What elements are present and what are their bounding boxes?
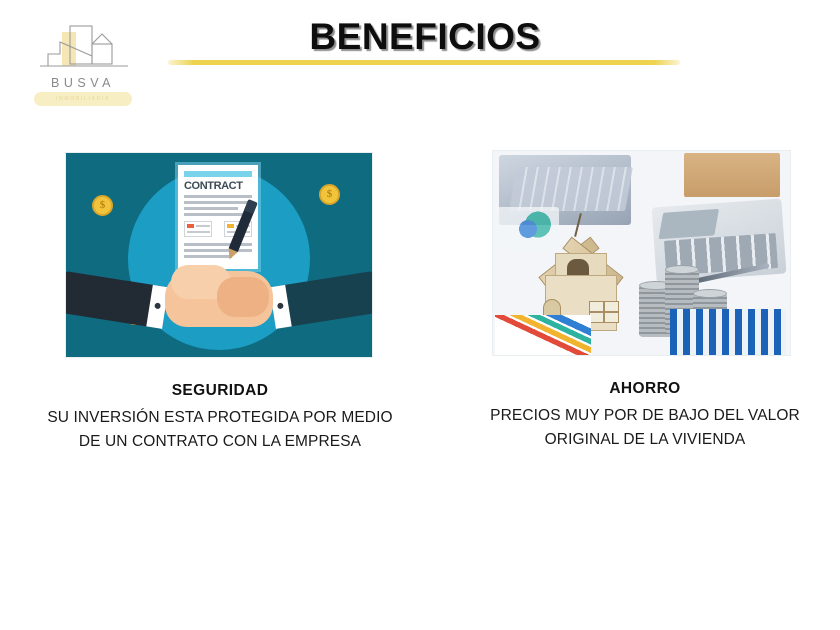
document-field: [184, 221, 212, 237]
dollar-coin-icon: $: [92, 195, 113, 216]
document-header-band: [184, 171, 252, 177]
busva-building-logo-icon: [36, 24, 132, 76]
benefit-caption-ahorro: AHORRO PRECIOS MUY POR DE BAJO DEL VALOR…: [455, 380, 835, 452]
caption-body: SU INVERSIÓN ESTA PROTEGIDA POR MEDIO DE…: [40, 406, 400, 454]
slide-canvas: BUSVA INMOBILIARIA BENEFICIOS $ $ $ $ CO…: [0, 0, 840, 630]
logo-tagline-highlight: INMOBILIARIA: [34, 92, 132, 106]
caption-title: SEGURIDAD: [30, 382, 410, 400]
house-model-coins-photo: [492, 150, 791, 356]
logo-tagline: INMOBILIARIA: [34, 92, 132, 106]
contract-document-label: CONTRACT: [184, 180, 252, 192]
handshake-hands: [165, 271, 273, 327]
title-underline-rule: [168, 60, 680, 65]
caption-body: PRECIOS MUY POR DE BAJO DEL VALOR ORIGIN…: [470, 404, 820, 452]
benefit-column-ahorro: AHORRO PRECIOS MUY POR DE BAJO DEL VALOR…: [455, 150, 835, 452]
handshake-contract-illustration: $ $ $ $ CONTRACT: [65, 152, 373, 358]
wooden-surface: [684, 153, 780, 197]
logo-wordmark: BUSVA: [28, 76, 138, 90]
benefit-caption-seguridad: SEGURIDAD SU INVERSIÓN ESTA PROTEGIDA PO…: [30, 382, 410, 454]
dollar-coin-icon: $: [319, 184, 340, 205]
benefit-column-seguridad: $ $ $ $ CONTRACT: [30, 150, 410, 454]
line-chart-paper: [495, 315, 591, 355]
page-title: BENEFICIOS: [170, 16, 680, 58]
caption-title: AHORRO: [455, 380, 835, 398]
bar-chart-paper: [670, 309, 786, 355]
company-logo: BUSVA INMOBILIARIA: [28, 24, 138, 110]
